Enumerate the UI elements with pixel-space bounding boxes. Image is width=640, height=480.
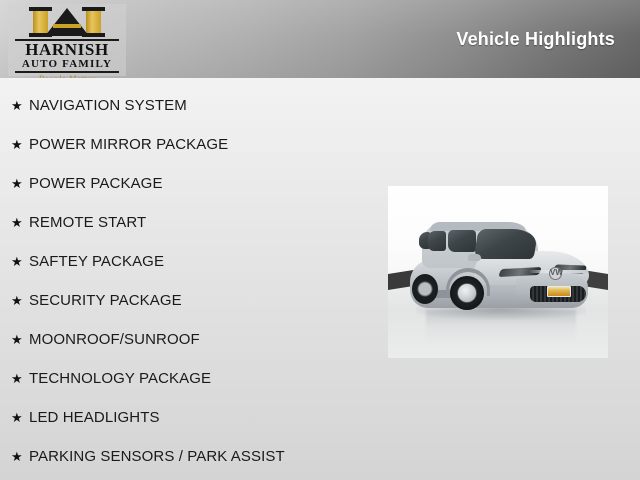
star-icon: ★ [11, 255, 29, 268]
highlight-label: LED HEADLIGHTS [29, 409, 160, 426]
list-item: ★ LED HEADLIGHTS [0, 398, 390, 437]
vehicle-photo: VW [388, 186, 608, 358]
list-item: ★ SECURITY PACKAGE [0, 281, 390, 320]
logo-subtitle: AUTO FAMILY [8, 58, 126, 70]
list-item: ★ NAVIGATION SYSTEM [0, 86, 390, 125]
list-item: ★ MOONROOF/SUNROOF [0, 320, 390, 359]
vehicle-highlights-list: ★ NAVIGATION SYSTEM ★ POWER MIRROR PACKA… [0, 86, 390, 476]
dealer-logo[interactable]: HARNISH AUTO FAMILY People Matter [8, 4, 126, 76]
star-icon: ★ [11, 450, 29, 463]
vehicle-front-wheel-hub [458, 284, 476, 302]
vw-badge-icon: VW [549, 267, 562, 280]
list-item: ★ REMOTE START [0, 203, 390, 242]
logo-name: HARNISH [8, 42, 126, 58]
list-item: ★ POWER PACKAGE [0, 164, 390, 203]
star-icon: ★ [11, 372, 29, 385]
vehicle-windshield [474, 229, 539, 259]
page-title: Vehicle Highlights [456, 29, 615, 50]
star-icon: ★ [11, 294, 29, 307]
star-icon: ★ [11, 411, 29, 424]
highlight-label: NAVIGATION SYSTEM [29, 97, 187, 114]
vehicle-side-mirror [468, 254, 481, 261]
vehicle-illustration: VW [404, 218, 594, 318]
highlight-label: POWER MIRROR PACKAGE [29, 136, 228, 153]
page-header: HARNISH AUTO FAMILY People Matter Vehicl… [0, 0, 640, 78]
vehicle-rear-wheel [412, 274, 438, 304]
list-item: ★ TECHNOLOGY PACKAGE [0, 359, 390, 398]
dealer-license-plate [547, 286, 571, 297]
logo-tagline: People Matter [8, 73, 126, 78]
star-icon: ★ [11, 333, 29, 346]
list-item: ★ SAFTEY PACKAGE [0, 242, 390, 281]
vehicle-highlights-page: HARNISH AUTO FAMILY People Matter Vehicl… [0, 0, 640, 480]
highlight-label: POWER PACKAGE [29, 175, 163, 192]
highlight-label: PARKING SENSORS / PARK ASSIST [29, 448, 285, 465]
list-item: ★ PARKING SENSORS / PARK ASSIST [0, 437, 390, 476]
highlight-label: SECURITY PACKAGE [29, 292, 182, 309]
highlight-label: MOONROOF/SUNROOF [29, 331, 200, 348]
highlight-label: TECHNOLOGY PACKAGE [29, 370, 211, 387]
logo-a-frame [45, 8, 89, 36]
list-item: ★ POWER MIRROR PACKAGE [0, 125, 390, 164]
logo-a-crossbar [53, 24, 81, 28]
star-icon: ★ [11, 177, 29, 190]
vehicle-front-side-window [448, 230, 476, 252]
vehicle-rear-side-window [428, 231, 446, 251]
harnish-a-frame-logo-icon [19, 7, 115, 37]
vehicle-floor-reflection [426, 310, 576, 344]
star-icon: ★ [11, 99, 29, 112]
highlight-label: SAFTEY PACKAGE [29, 253, 164, 270]
star-icon: ★ [11, 138, 29, 151]
highlight-label: REMOTE START [29, 214, 146, 231]
star-icon: ★ [11, 216, 29, 229]
